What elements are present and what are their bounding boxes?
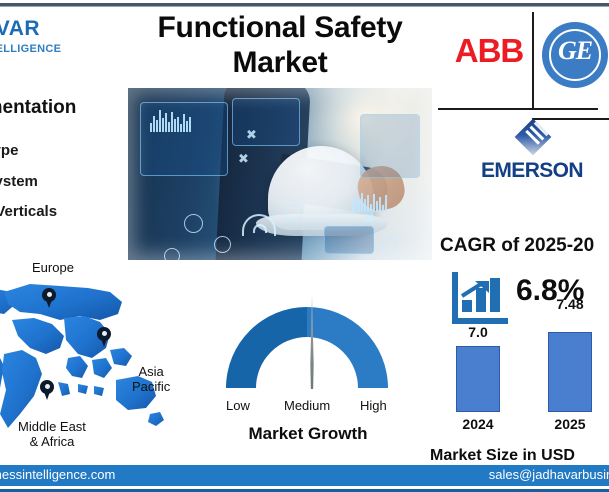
bar-category-label: 2024 bbox=[446, 416, 510, 432]
cagr-label: CAGR of 2025-20 bbox=[440, 235, 609, 257]
brand-name: HAVAR bbox=[0, 18, 106, 39]
hero-image: ✖ ✖ ✖ bbox=[128, 88, 432, 260]
map-pin-tip bbox=[100, 336, 108, 347]
map-pin-asia bbox=[97, 327, 111, 347]
bar-column: 7.0 2024 bbox=[456, 346, 500, 412]
bar-chart-growth-icon bbox=[452, 272, 506, 322]
abb-logo: ABB bbox=[450, 34, 528, 67]
market-size-bar-chart: 7.0 2024 7.48 2025 bbox=[436, 318, 609, 438]
emerson-logo-text: EMERSON bbox=[452, 160, 609, 181]
map-pin-africa bbox=[40, 380, 54, 400]
map-label-mea-line2: & Africa bbox=[18, 435, 86, 450]
bar-rect bbox=[548, 332, 592, 412]
bar-chart-caption: Market Size in USD bbox=[430, 447, 609, 465]
map-pin-europe bbox=[42, 288, 56, 308]
brand-tagline: S INTELLIGENCE bbox=[0, 43, 106, 55]
footer-bar: usinessintelligence.com sales@jadhavarbu… bbox=[0, 465, 609, 486]
emerson-diamond-icon bbox=[515, 119, 552, 156]
chart-bar bbox=[462, 300, 472, 312]
map-pin-tip bbox=[43, 389, 51, 400]
gauge-tick-high: High bbox=[360, 398, 387, 413]
segmentation-item: try Verticals bbox=[0, 204, 132, 221]
grid-divider bbox=[532, 12, 534, 110]
grid-divider bbox=[532, 118, 609, 120]
market-growth-gauge bbox=[216, 288, 398, 388]
grid-divider bbox=[438, 108, 598, 110]
ge-logo: GE bbox=[544, 24, 606, 86]
gauge-caption: Market Growth bbox=[208, 424, 408, 444]
map-label-middle-east-africa: Middle East & Africa bbox=[18, 420, 86, 450]
gauge-arc-svg bbox=[216, 288, 398, 388]
footer-website[interactable]: usinessintelligence.com bbox=[0, 467, 115, 482]
infographic-poster: HAVAR S INTELLIGENCE Functional Safety M… bbox=[0, 0, 609, 492]
bar-value-label: 7.0 bbox=[446, 324, 510, 340]
bar-value-label: 7.48 bbox=[538, 296, 602, 312]
segmentation-heading: gmentation bbox=[0, 97, 76, 119]
brand-logo: HAVAR S INTELLIGENCE bbox=[0, 18, 106, 55]
growth-arrow-icon bbox=[461, 280, 495, 298]
map-label-mea-line1: Middle East bbox=[18, 420, 86, 435]
page-title: Functional Safety Market bbox=[130, 10, 430, 81]
gauge-tick-medium: Medium bbox=[284, 398, 330, 413]
segmentation-item: e Type bbox=[0, 143, 132, 160]
ge-logo-monogram: GE bbox=[544, 38, 606, 64]
map-label-asia-pacific: Asia Pacific bbox=[132, 365, 170, 395]
bar-category-label: 2025 bbox=[538, 416, 602, 432]
map-label-europe: Europe bbox=[32, 261, 74, 276]
segmentation-list: e Type y System try Verticals bbox=[0, 143, 132, 235]
segmentation-item: y System bbox=[0, 174, 132, 191]
gauge-tick-low: Low bbox=[226, 398, 250, 413]
bar-column: 7.48 2025 bbox=[548, 332, 592, 412]
bar-rect bbox=[456, 346, 500, 412]
company-logo-grid: ABB GE EMERSON Ho bbox=[446, 6, 609, 218]
hero-vignette bbox=[128, 88, 432, 260]
map-label-asia-pacific-line2: Pacific bbox=[132, 380, 170, 395]
map-label-asia-pacific-line1: Asia bbox=[132, 365, 170, 380]
footer-email[interactable]: sales@jadhavarbusines bbox=[489, 467, 609, 482]
map-pin-tip bbox=[45, 297, 53, 308]
